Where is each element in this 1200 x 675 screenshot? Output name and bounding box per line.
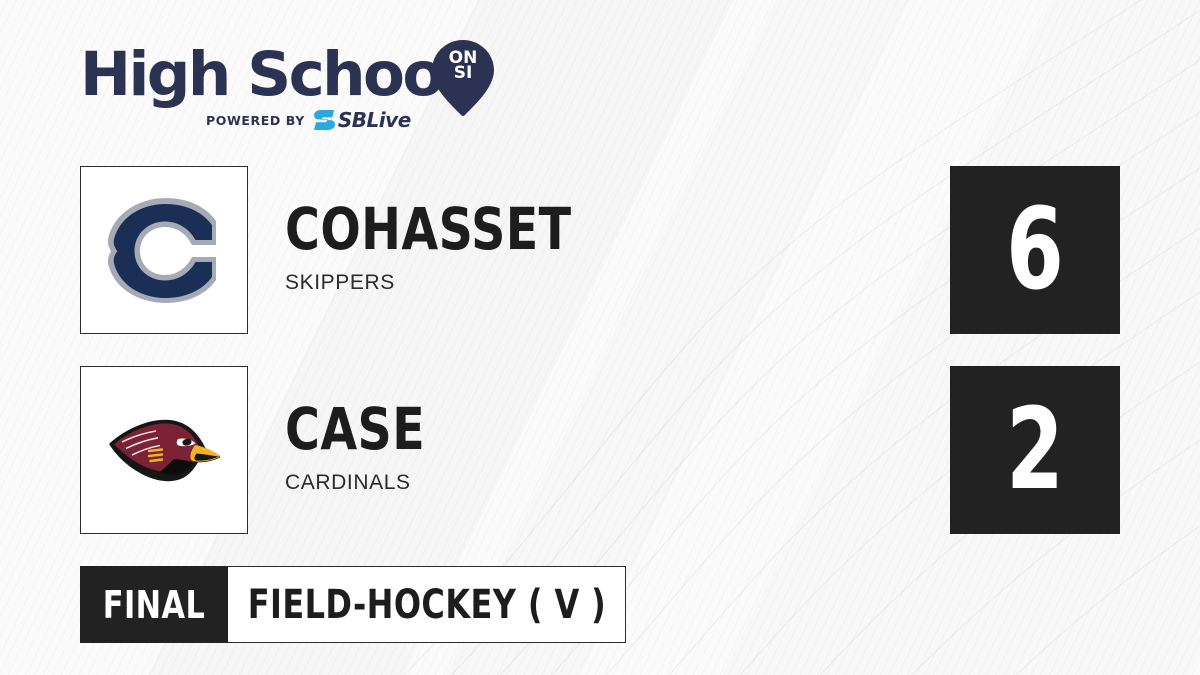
team-logo-box bbox=[80, 166, 248, 334]
status-label: FINAL bbox=[103, 586, 205, 624]
sblive-logo: SBLive bbox=[314, 110, 411, 130]
powered-by-label: POWERED BY bbox=[206, 113, 305, 128]
cohasset-c-logo-icon bbox=[104, 195, 224, 305]
team-info: COHASSET SKIPPERS bbox=[285, 200, 634, 295]
on-si-pin-icon: ON SI bbox=[432, 40, 494, 116]
team-score-box: 6 bbox=[950, 166, 1120, 334]
team-mascot: CARDINALS bbox=[285, 471, 456, 495]
team-mascot: SKIPPERS bbox=[285, 271, 634, 295]
sblive-bolt-icon bbox=[314, 110, 336, 130]
team-score-box: 2 bbox=[950, 366, 1120, 534]
team-info: CASE CARDINALS bbox=[285, 400, 456, 495]
team-score: 6 bbox=[1006, 194, 1064, 306]
sport-label: FIELD-HOCKEY ( V ) bbox=[247, 585, 605, 625]
powered-by-block: POWERED BY SBLive bbox=[206, 110, 411, 130]
team-name: CASE bbox=[285, 400, 425, 458]
sblive-wordmark: SBLive bbox=[338, 110, 411, 130]
team-row: CASE CARDINALS 2 bbox=[80, 366, 1120, 534]
team-name: COHASSET bbox=[285, 200, 572, 258]
team-score: 2 bbox=[1006, 394, 1064, 506]
sport-label-box: FIELD-HOCKEY ( V ) bbox=[228, 566, 626, 643]
status-badge: FINAL bbox=[80, 566, 228, 643]
team-row: COHASSET SKIPPERS 6 bbox=[80, 166, 1120, 334]
game-status-bar: FINAL FIELD-HOCKEY ( V ) bbox=[80, 566, 626, 643]
brand-wordmark: High School bbox=[80, 44, 460, 105]
pin-line-si: SI bbox=[432, 66, 494, 81]
case-cardinal-logo-icon bbox=[100, 404, 228, 496]
scoreboard-graphic: High School ON SI POWERED BY SBLive bbox=[0, 0, 1200, 675]
team-logo-box bbox=[80, 366, 248, 534]
brand-header: High School ON SI POWERED BY SBLive bbox=[80, 40, 510, 132]
on-si-pin-label: ON SI bbox=[432, 51, 494, 81]
